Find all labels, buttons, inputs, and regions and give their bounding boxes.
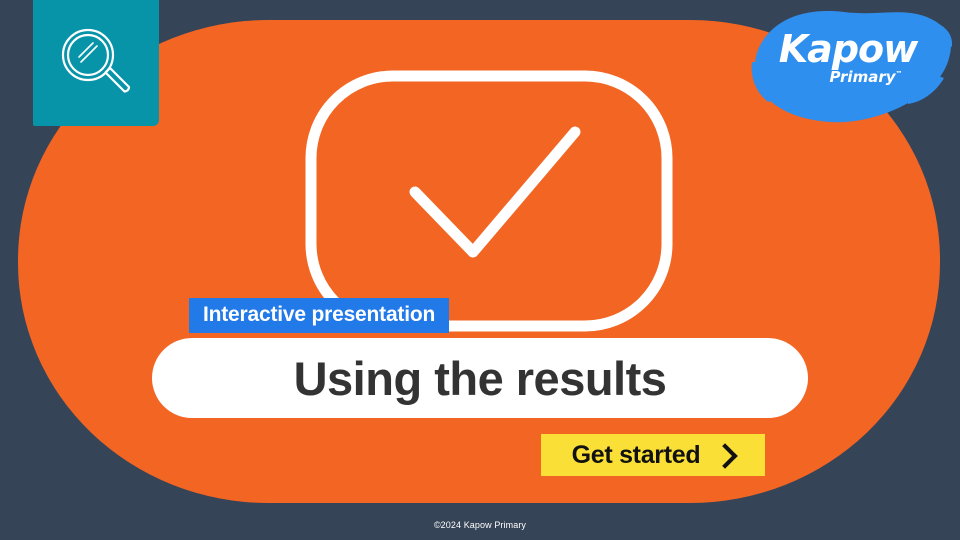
brush-stroke-shape xyxy=(748,2,956,132)
get-started-button[interactable]: Get started xyxy=(541,434,765,476)
chevron-right-icon xyxy=(713,443,738,468)
check-in-rounded-rectangle-icon xyxy=(305,70,673,332)
copyright-footer: ©2024 Kapow Primary xyxy=(0,520,960,530)
interactive-presentation-badge: Interactive presentation xyxy=(189,298,449,333)
get-started-label: Get started xyxy=(572,443,701,468)
topic-icon-tile xyxy=(33,0,159,126)
kapow-primary-logo: Kapow Primary™ xyxy=(748,2,956,132)
page-title: Using the results xyxy=(294,355,667,402)
slide-title-pill: Using the results xyxy=(152,338,808,418)
presentation-slide: Kapow Primary™ Interactive presentation … xyxy=(0,0,960,540)
